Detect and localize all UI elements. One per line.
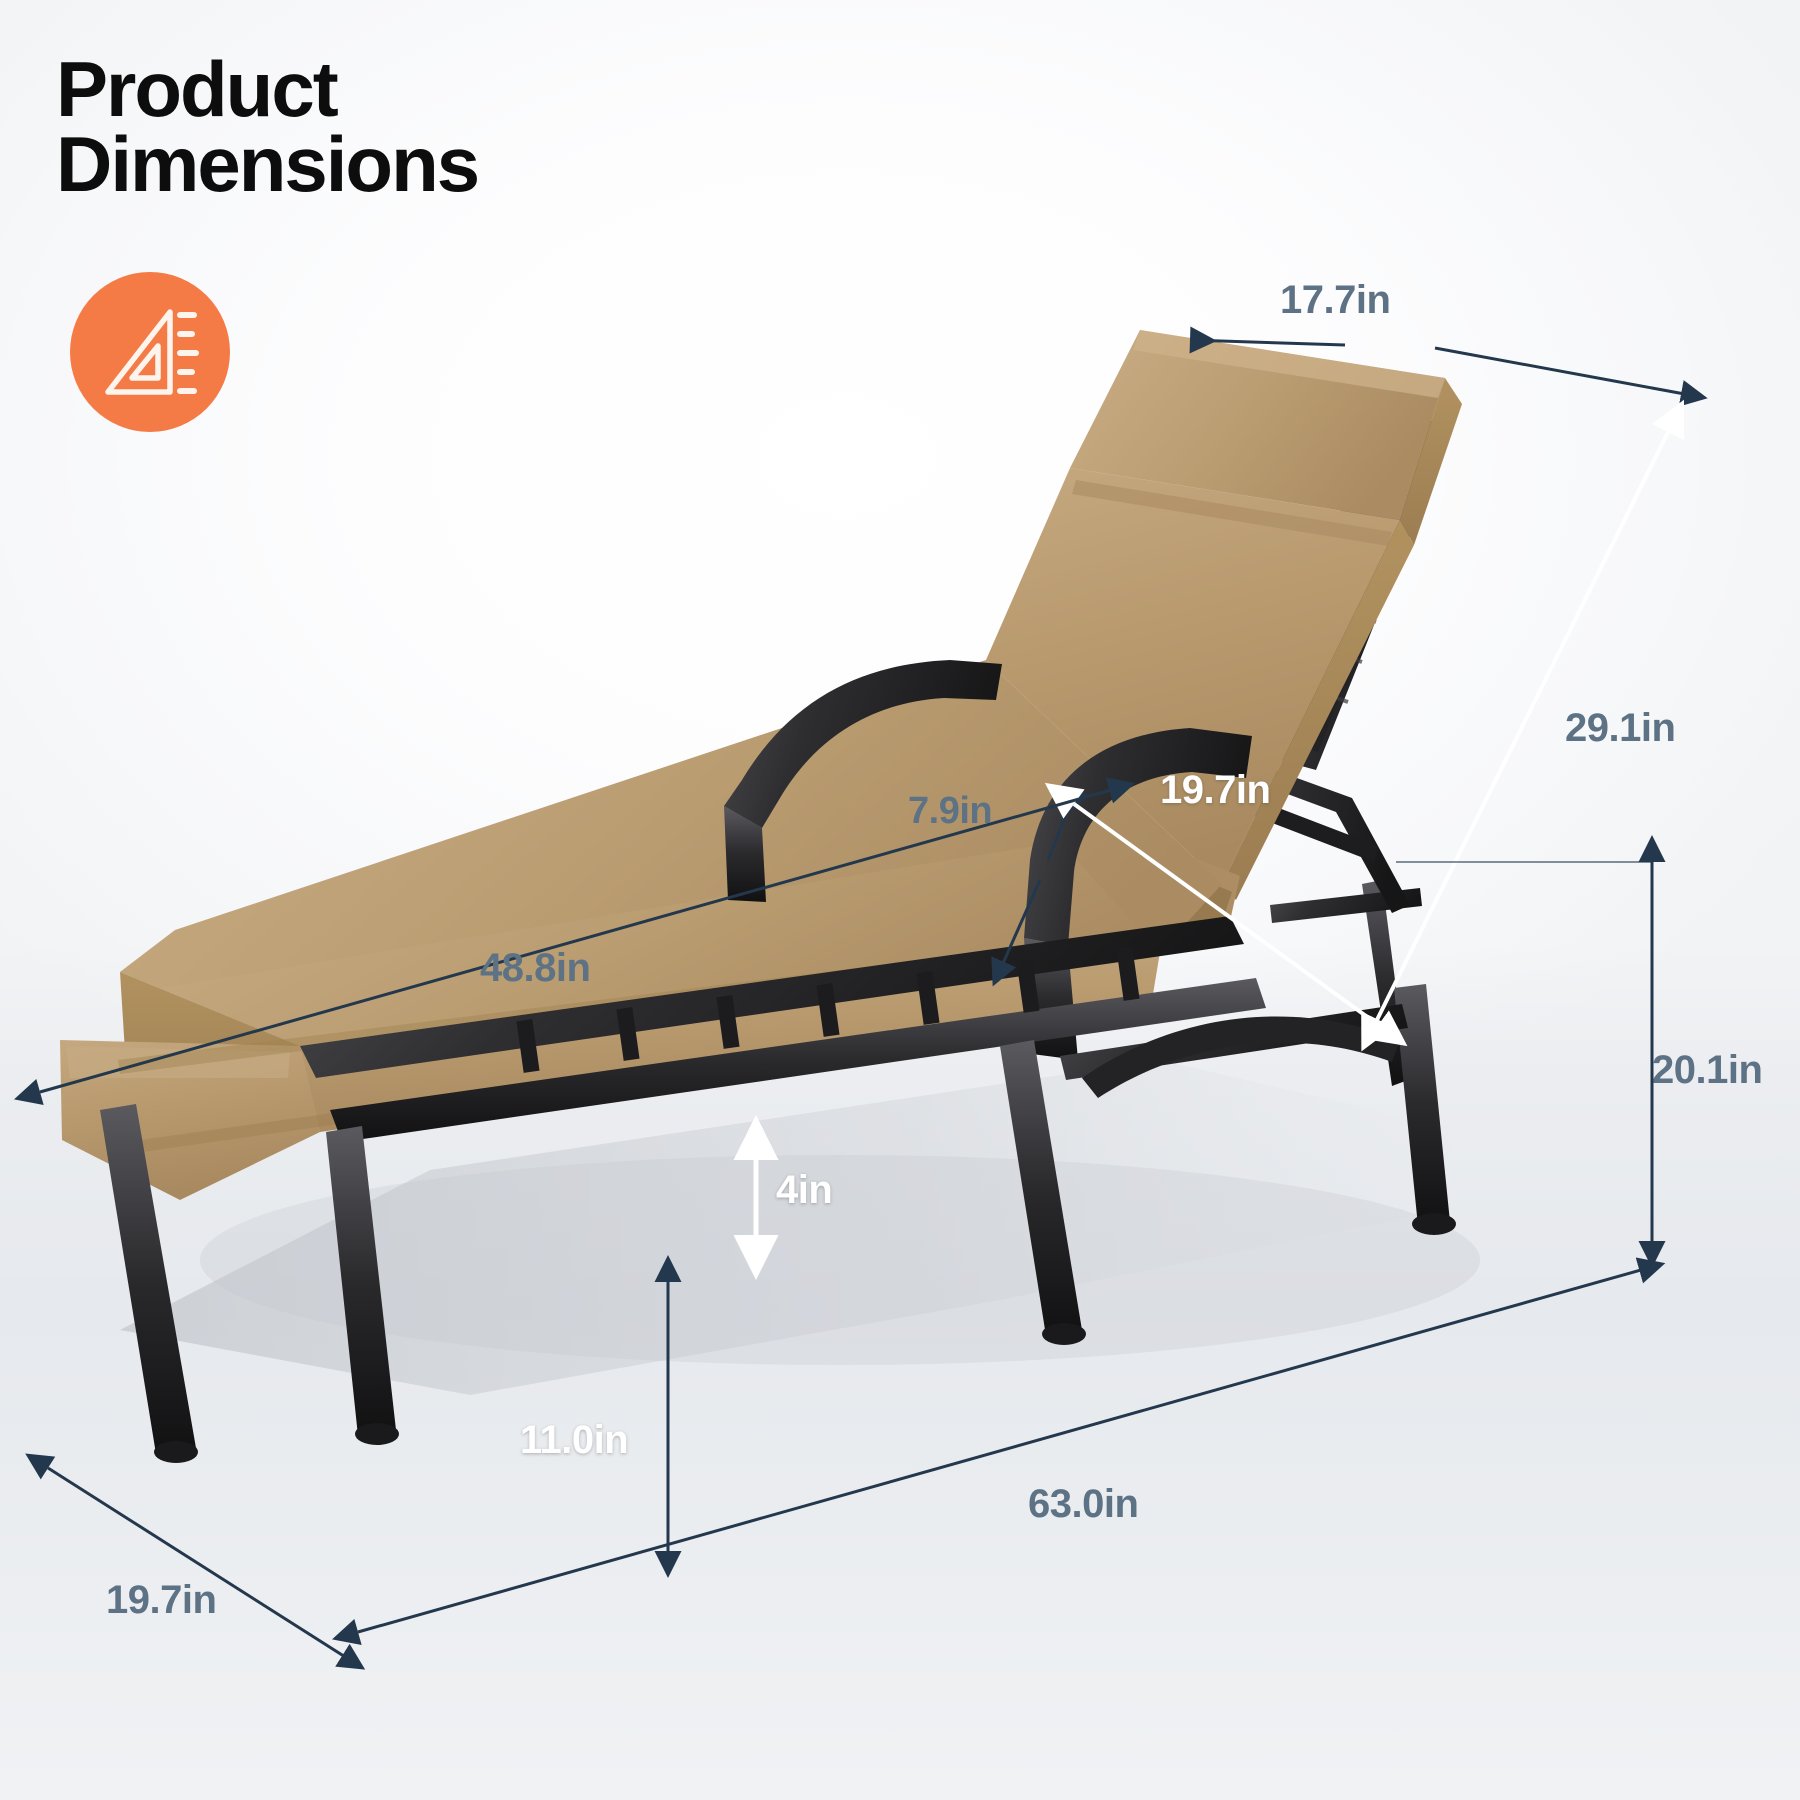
studio-floor: [0, 1040, 1800, 1800]
dim-label-overall-height: 20.1in: [1652, 1048, 1762, 1093]
dim-label-cushion-thickness: 4in: [776, 1168, 832, 1213]
dim-label-backrest-height: 29.1in: [1565, 706, 1675, 751]
dim-label-overall-length: 63.0in: [1028, 1482, 1138, 1527]
ruler-triangle-icon-badge: [70, 272, 230, 432]
dim-label-backrest-width: 17.7in: [1280, 278, 1390, 323]
dim-label-armrest-height: 7.9in: [908, 790, 992, 833]
floor-horizon-line: [0, 945, 1800, 1065]
page-title: Product Dimensions: [56, 52, 478, 202]
dim-label-seat-width: 19.7in: [1160, 768, 1270, 813]
dim-label-overall-depth: 19.7in: [106, 1578, 216, 1623]
product-dimensions-infographic: Product Dimensions 17.7in 29.1in 7.9in 1…: [0, 0, 1800, 1800]
dim-label-seat-height: 11.0in: [520, 1418, 628, 1463]
dim-label-cushion-length: 48.8in: [480, 946, 590, 991]
